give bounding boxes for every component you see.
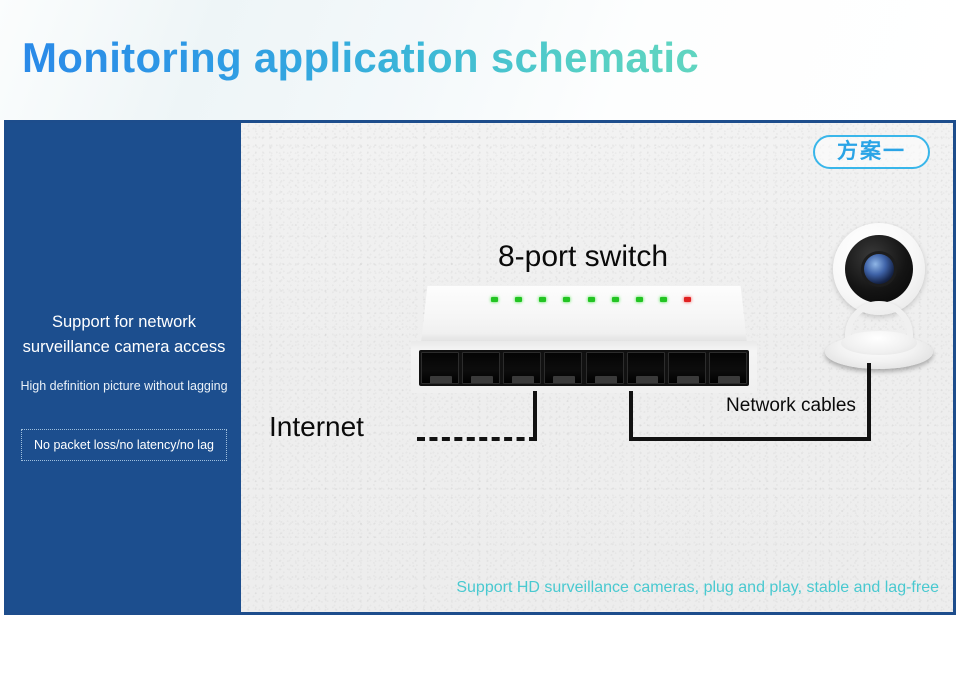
camera-lens <box>864 254 894 284</box>
camera-base-inner <box>841 331 917 355</box>
led-port-7 <box>636 297 643 302</box>
led-port-1 <box>491 297 498 302</box>
led-port-6 <box>612 297 619 302</box>
led-port-8 <box>660 297 667 302</box>
schematic-stage: 方案一 8-port switch <box>241 123 953 612</box>
cables-bracket-bottom <box>629 437 871 441</box>
cables-bracket-left-vertical <box>629 391 633 441</box>
plan-badge: 方案一 <box>813 135 930 169</box>
ip-camera-device <box>811 223 941 368</box>
rj45-port-4 <box>544 352 582 384</box>
schematic-frame: Support for network surveillance camera … <box>4 120 956 615</box>
footer-note: Support HD surveillance cameras, plug an… <box>241 579 939 597</box>
rj45-port-5 <box>586 352 624 384</box>
left-panel-heading: Support for network surveillance camera … <box>7 310 241 360</box>
led-port-3 <box>539 297 546 302</box>
left-panel-tagline-box: No packet loss/no latency/no lag <box>21 429 227 461</box>
rj45-port-strip <box>419 350 749 386</box>
left-info-panel: Support for network surveillance camera … <box>7 123 241 612</box>
rj45-port-3 <box>503 352 541 384</box>
left-panel-subheading: High definition picture without lagging <box>7 379 241 393</box>
rj45-port-8 <box>709 352 747 384</box>
led-power <box>684 297 691 302</box>
camera-lens-ring <box>845 235 913 303</box>
switch-label: 8-port switch <box>483 240 683 274</box>
rj45-port-2 <box>462 352 500 384</box>
network-cables-label: Network cables <box>671 395 911 417</box>
led-port-2 <box>515 297 522 302</box>
internet-label: Internet <box>269 411 364 443</box>
internet-connector-dashed <box>417 437 537 441</box>
switch-led-row <box>491 297 691 309</box>
switch-front-face <box>411 341 757 393</box>
internet-connector-vertical <box>533 391 537 441</box>
rj45-port-1 <box>421 352 459 384</box>
network-switch-device <box>411 285 757 393</box>
led-port-5 <box>588 297 595 302</box>
switch-top-shell <box>421 285 747 343</box>
led-port-4 <box>563 297 570 302</box>
rj45-port-7 <box>668 352 706 384</box>
rj45-port-6 <box>627 352 665 384</box>
page-title: Monitoring application schematic <box>22 34 699 82</box>
